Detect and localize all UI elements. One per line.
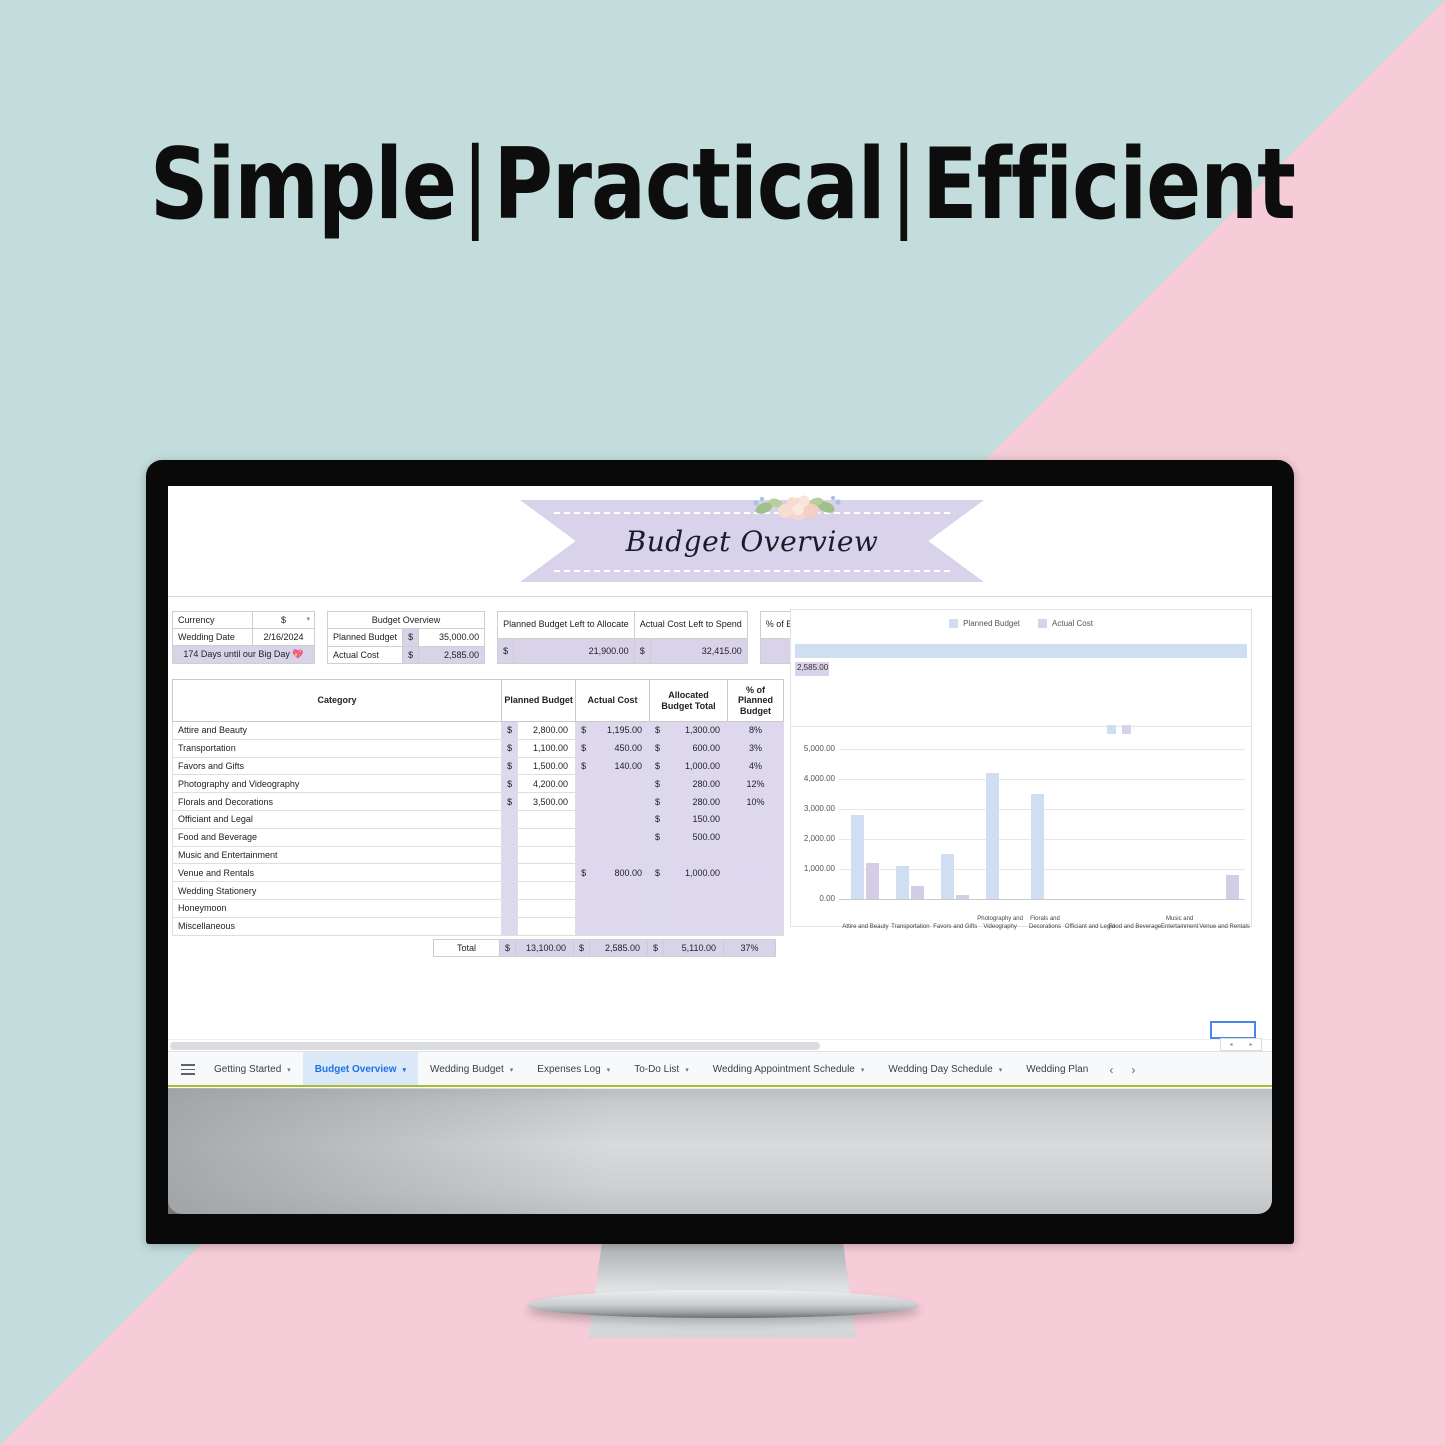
chart-bar-group: [896, 749, 924, 899]
row-category-cell[interactable]: Attire and Beauty: [173, 722, 502, 740]
row-allocated-value[interactable]: 280.00: [666, 793, 728, 811]
row-planned-currency[interactable]: [502, 811, 518, 829]
col-legend-swatch-actual-icon: [1122, 725, 1131, 734]
row-allocated-currency[interactable]: $: [650, 722, 666, 740]
sheet-tab-getting-started[interactable]: Getting Started▾: [202, 1052, 303, 1088]
table-row[interactable]: Honeymoon: [173, 900, 784, 918]
total-row-table: Total $ 13,100.00 $ 2,585.00 $ 5,110.00 …: [433, 939, 776, 957]
chart-bar-group: [851, 749, 879, 899]
row-planned-currency[interactable]: $: [502, 775, 518, 793]
actual-left-header: Actual Cost Left to Spend: [634, 612, 747, 639]
hbar-actual-label: 2,585.00: [797, 663, 828, 672]
total-planned-value: 13,100.00: [516, 940, 574, 957]
row-planned-value[interactable]: 1,500.00: [518, 757, 576, 775]
tab-chevron-down-icon[interactable]: ▾: [287, 1066, 291, 1074]
currency-info-panel: Currency $ ▾ Wedding Date 2/16/2024 174 …: [172, 611, 315, 664]
table-row[interactable]: Music and Entertainment: [173, 846, 784, 864]
headline-separator-1: |: [456, 128, 493, 242]
sheet-body: Currency $ ▾ Wedding Date 2/16/2024 174 …: [168, 597, 1272, 1087]
row-category-cell[interactable]: Food and Beverage: [173, 828, 502, 846]
row-allocated-value[interactable]: 500.00: [666, 828, 728, 846]
row-planned-currency[interactable]: [502, 900, 518, 918]
chart-x-axis: [839, 899, 1245, 900]
row-allocated-currency[interactable]: [650, 846, 666, 864]
total-allocated-currency: $: [648, 940, 664, 957]
row-category-cell[interactable]: Transportation: [173, 739, 502, 757]
planned-left-value: 21,900.00: [514, 638, 635, 663]
chart-y-tick-label: 4,000.00: [795, 774, 835, 783]
row-category-cell[interactable]: Venue and Rentals: [173, 864, 502, 882]
row-actual-value[interactable]: [592, 828, 650, 846]
row-actual-value[interactable]: 450.00: [592, 739, 650, 757]
row-allocated-value[interactable]: [666, 846, 728, 864]
row-allocated-value[interactable]: [666, 882, 728, 900]
sheet-tab-label: Wedding Budget: [430, 1064, 504, 1075]
headline-word-3: Efficient: [922, 128, 1295, 242]
planned-left-header: Planned Budget Left to Allocate: [498, 612, 635, 639]
total-actual-currency: $: [574, 940, 590, 957]
row-allocated-currency[interactable]: $: [650, 775, 666, 793]
headline-separator-2: |: [885, 128, 922, 242]
chart-legend-top: Planned Budget Actual Cost: [791, 610, 1251, 628]
row-allocated-currency[interactable]: $: [650, 811, 666, 829]
countdown-banner: 174 Days until our Big Day 💖: [173, 646, 315, 664]
tab-chevron-down-icon[interactable]: ▾: [402, 1066, 406, 1074]
tab-chevron-down-icon[interactable]: ▾: [685, 1066, 689, 1074]
charts-panel[interactable]: Planned Budget Actual Cost 2,585.00: [790, 609, 1252, 927]
sheet-tab-bar: Getting Started▾Budget Overview▾Wedding …: [168, 1051, 1272, 1087]
row-allocated-currency[interactable]: $: [650, 864, 666, 882]
sheet-tab-budget-overview[interactable]: Budget Overview▾: [303, 1052, 418, 1088]
table-header-row: Category Planned Budget Actual Cost Allo…: [173, 680, 784, 722]
sheet-tab-wedding-day-schedule[interactable]: Wedding Day Schedule▾: [876, 1052, 1014, 1088]
row-planned-currency[interactable]: $: [502, 793, 518, 811]
row-planned-currency[interactable]: $: [502, 739, 518, 757]
table-row[interactable]: Miscellaneous: [173, 917, 784, 935]
tab-chevron-down-icon[interactable]: ▾: [999, 1066, 1003, 1074]
sheet-tab-wedding-budget[interactable]: Wedding Budget▾: [418, 1052, 525, 1088]
actual-cost-value: 2,585.00: [419, 646, 485, 663]
row-actual-value[interactable]: [592, 811, 650, 829]
cell-nav-buttons[interactable]: ◂ ▸: [1220, 1038, 1262, 1051]
row-planned-value[interactable]: [518, 864, 576, 882]
row-category-cell[interactable]: Honeymoon: [173, 900, 502, 918]
row-allocated-value[interactable]: 280.00: [666, 775, 728, 793]
row-percent-value[interactable]: 8%: [728, 722, 784, 740]
row-allocated-value[interactable]: [666, 917, 728, 935]
row-category-cell[interactable]: Wedding Stationery: [173, 882, 502, 900]
row-allocated-value[interactable]: 1,300.00: [666, 722, 728, 740]
tabs-prev-arrow-icon[interactable]: ‹: [1100, 1063, 1122, 1077]
sheet-tab-label: Wedding Appointment Schedule: [713, 1064, 855, 1075]
row-percent-value[interactable]: [728, 811, 784, 829]
total-label: Total: [434, 940, 500, 957]
row-planned-value[interactable]: 2,800.00: [518, 722, 576, 740]
col-header-planned: Planned Budget: [502, 680, 576, 722]
table-row[interactable]: Food and Beverage$500.00: [173, 828, 784, 846]
chart-bar-group: [986, 749, 1014, 899]
row-actual-currency[interactable]: $: [576, 757, 592, 775]
legend-item-planned: Planned Budget: [949, 619, 1020, 628]
chart-bar-group: [1121, 749, 1149, 899]
row-actual-value[interactable]: [592, 882, 650, 900]
row-actual-value[interactable]: [592, 846, 650, 864]
row-planned-value[interactable]: [518, 846, 576, 864]
row-actual-currency[interactable]: [576, 846, 592, 864]
col-header-category: Category: [173, 680, 502, 722]
sheet-tab-label: Getting Started: [214, 1064, 281, 1075]
chart-bar-group: [1211, 749, 1239, 899]
planned-budget-label: Planned Budget: [328, 629, 403, 646]
row-actual-currency[interactable]: [576, 917, 592, 935]
col-header-actual: Actual Cost: [576, 680, 650, 722]
row-planned-currency[interactable]: [502, 882, 518, 900]
chevron-down-icon[interactable]: ▾: [306, 615, 310, 623]
row-actual-value[interactable]: 800.00: [592, 864, 650, 882]
headline-word-2: Practical: [494, 128, 885, 242]
row-planned-value[interactable]: 1,100.00: [518, 739, 576, 757]
total-allocated-value: 5,110.00: [664, 940, 724, 957]
sheet-banner: Budget Overview: [168, 486, 1272, 596]
table-row[interactable]: Attire and Beauty$2,800.00$1,195.00$1,30…: [173, 722, 784, 740]
chart-bar-actual: [911, 886, 924, 900]
row-allocated-value[interactable]: 1,000.00: [666, 757, 728, 775]
row-actual-currency[interactable]: [576, 900, 592, 918]
row-percent-value[interactable]: 3%: [728, 739, 784, 757]
tabs-next-arrow-icon[interactable]: ›: [1122, 1063, 1144, 1077]
sheet-tab-label: Wedding Day Schedule: [888, 1064, 992, 1075]
actual-left-value: 32,415.00: [650, 638, 747, 663]
tab-chevron-down-icon[interactable]: ▾: [607, 1066, 611, 1074]
chart-bar-planned: [941, 854, 954, 899]
planned-budget-value[interactable]: 35,000.00: [419, 629, 485, 646]
remaining-panel: Planned Budget Left to Allocate Actual C…: [497, 611, 748, 664]
row-percent-value[interactable]: 12%: [728, 775, 784, 793]
row-actual-currency[interactable]: [576, 882, 592, 900]
cell-nav-next-icon[interactable]: ▸: [1241, 1039, 1261, 1050]
row-percent-value[interactable]: 4%: [728, 757, 784, 775]
row-allocated-currency[interactable]: $: [650, 828, 666, 846]
table-total-row: Total $ 13,100.00 $ 2,585.00 $ 5,110.00 …: [434, 940, 776, 957]
actual-left-currency: $: [634, 638, 650, 663]
currency-value: $: [281, 615, 286, 625]
row-planned-value[interactable]: [518, 900, 576, 918]
budget-category-table: Category Planned Budget Actual Cost Allo…: [172, 679, 784, 936]
row-actual-currency[interactable]: [576, 828, 592, 846]
headline-word-1: Simple: [150, 128, 456, 242]
col-legend-swatch-planned-icon: [1107, 725, 1116, 734]
sheet-tab-label: Expenses Log: [537, 1064, 600, 1075]
chart-bar-planned: [896, 866, 909, 899]
row-planned-currency[interactable]: [502, 917, 518, 935]
col-header-allocated: Allocated Budget Total: [650, 680, 728, 722]
chart-bar-group: [1031, 749, 1059, 899]
table-row[interactable]: Wedding Stationery: [173, 882, 784, 900]
chart-bar-planned: [1031, 794, 1044, 899]
sheet-tab-label: To-Do List: [634, 1064, 679, 1075]
cell-nav-prev-icon[interactable]: ◂: [1221, 1039, 1241, 1050]
budget-overview-panel: Budget Overview Planned Budget $ 35,000.…: [327, 611, 485, 664]
chart-y-tick-label: 1,000.00: [795, 864, 835, 873]
page-headline: Simple|Practical|Efficient: [58, 128, 1387, 242]
row-actual-value[interactable]: [592, 775, 650, 793]
sheet-tab-to-do-list[interactable]: To-Do List▾: [622, 1052, 701, 1088]
tab-chevron-down-icon[interactable]: ▾: [510, 1066, 514, 1074]
row-planned-value[interactable]: [518, 828, 576, 846]
row-planned-currency[interactable]: $: [502, 757, 518, 775]
row-percent-value[interactable]: [728, 882, 784, 900]
row-actual-currency[interactable]: $: [576, 864, 592, 882]
table-row[interactable]: Florals and Decorations$3,500.00$280.001…: [173, 793, 784, 811]
row-percent-value[interactable]: 10%: [728, 793, 784, 811]
chart-bar-actual: [866, 863, 879, 899]
legend-label-actual: Actual Cost: [1052, 619, 1093, 628]
row-allocated-value[interactable]: 150.00: [666, 811, 728, 829]
sheet-tab-label: Budget Overview: [315, 1064, 397, 1075]
chart-bar-group: [1166, 749, 1194, 899]
row-actual-currency[interactable]: $: [576, 722, 592, 740]
row-allocated-currency[interactable]: [650, 917, 666, 935]
chart-y-tick-label: 5,000.00: [795, 744, 835, 753]
row-actual-value[interactable]: [592, 917, 650, 935]
sheet-tab-wedding-appointment-schedule[interactable]: Wedding Appointment Schedule▾: [701, 1052, 877, 1088]
row-allocated-currency[interactable]: [650, 882, 666, 900]
row-category-cell[interactable]: Favors and Gifts: [173, 757, 502, 775]
wedding-date-label: Wedding Date: [173, 629, 253, 646]
spreadsheet-screen: Budget Overview Currency $ ▾: [168, 486, 1272, 1088]
hbar-planned-budget: [795, 644, 1247, 658]
sheet-tab-wedding-plan[interactable]: Wedding Plan: [1014, 1052, 1100, 1088]
monitor-stand-base: [527, 1290, 919, 1318]
row-actual-currency[interactable]: [576, 811, 592, 829]
row-allocated-currency[interactable]: $: [650, 757, 666, 775]
monitor-bezel: Budget Overview Currency $ ▾: [146, 460, 1294, 1244]
row-actual-currency[interactable]: [576, 775, 592, 793]
sheet-tab-label: Wedding Plan: [1026, 1064, 1088, 1075]
row-actual-value[interactable]: 140.00: [592, 757, 650, 775]
selected-cell[interactable]: [1210, 1021, 1256, 1039]
row-allocated-currency[interactable]: $: [650, 793, 666, 811]
row-category-cell[interactable]: Music and Entertainment: [173, 846, 502, 864]
row-planned-value[interactable]: 3,500.00: [518, 793, 576, 811]
legend-swatch-actual-icon: [1038, 619, 1047, 628]
chart-bar-group: [941, 749, 969, 899]
sheet-tab-expenses-log[interactable]: Expenses Log▾: [525, 1052, 622, 1088]
legend-label-planned: Planned Budget: [963, 619, 1020, 628]
row-allocated-value[interactable]: 600.00: [666, 739, 728, 757]
monitor-mockup: Budget Overview Currency $ ▾: [146, 460, 1294, 1244]
horizontal-scrollbar-track[interactable]: [168, 1039, 1272, 1051]
row-planned-value[interactable]: 4,200.00: [518, 775, 576, 793]
table-row[interactable]: Venue and Rentals$800.00$1,000.00: [173, 864, 784, 882]
actual-cost-currency: $: [403, 646, 419, 663]
chart-y-tick-label: 0.00: [795, 894, 835, 903]
chart-x-tick-label: Venue and Rentals: [1194, 924, 1256, 932]
monitor-chin: [168, 1088, 1272, 1214]
row-actual-value[interactable]: 1,195.00: [592, 722, 650, 740]
planned-left-currency: $: [498, 638, 514, 663]
sheet-banner-title: Budget Overview: [520, 500, 984, 582]
horizontal-scrollbar-thumb[interactable]: [170, 1042, 820, 1050]
row-category-cell[interactable]: Photography and Videography: [173, 775, 502, 793]
row-category-cell[interactable]: Officiant and Legal: [173, 811, 502, 829]
chart-bar-actual: [956, 895, 969, 899]
row-planned-value[interactable]: [518, 811, 576, 829]
budget-overview-panel-title: Budget Overview: [328, 612, 485, 629]
col-header-percent: % of Planned Budget: [728, 680, 784, 722]
currency-select[interactable]: $ ▾: [253, 612, 315, 629]
row-planned-currency[interactable]: $: [502, 722, 518, 740]
all-sheets-menu-icon[interactable]: [174, 1064, 202, 1075]
row-planned-value[interactable]: [518, 917, 576, 935]
row-percent-value[interactable]: [728, 900, 784, 918]
horizontal-bar-chart: 2,585.00: [791, 638, 1251, 726]
row-actual-value[interactable]: [592, 793, 650, 811]
tab-bar-underline: [168, 1085, 1272, 1087]
row-allocated-currency[interactable]: [650, 900, 666, 918]
row-allocated-currency[interactable]: $: [650, 739, 666, 757]
chart-bar-planned: [851, 815, 864, 899]
total-actual-value: 2,585.00: [590, 940, 648, 957]
table-row[interactable]: Transportation$1,100.00$450.00$600.003%: [173, 739, 784, 757]
wedding-date-value[interactable]: 2/16/2024: [253, 629, 315, 646]
row-percent-value[interactable]: [728, 917, 784, 935]
chart-y-tick-label: 2,000.00: [795, 834, 835, 843]
row-actual-value[interactable]: [592, 900, 650, 918]
tab-chevron-down-icon[interactable]: ▾: [861, 1066, 865, 1074]
total-planned-currency: $: [500, 940, 516, 957]
planned-budget-currency: $: [403, 629, 419, 646]
row-planned-value[interactable]: [518, 882, 576, 900]
row-category-cell[interactable]: Miscellaneous: [173, 917, 502, 935]
chart-bar-planned: [986, 773, 999, 899]
table-row[interactable]: Photography and Videography$4,200.00$280…: [173, 775, 784, 793]
row-actual-currency[interactable]: $: [576, 739, 592, 757]
table-row[interactable]: Officiant and Legal$150.00: [173, 811, 784, 829]
row-percent-value[interactable]: [728, 864, 784, 882]
column-chart-legend: [1107, 725, 1131, 734]
legend-item-actual: Actual Cost: [1038, 619, 1093, 628]
row-actual-currency[interactable]: [576, 793, 592, 811]
chart-y-tick-label: 3,000.00: [795, 804, 835, 813]
summary-panels-row: Currency $ ▾ Wedding Date 2/16/2024 174 …: [172, 611, 844, 664]
row-percent-value[interactable]: [728, 846, 784, 864]
total-percent-value: 37%: [724, 940, 776, 957]
table-row[interactable]: Favors and Gifts$1,500.00$140.00$1,000.0…: [173, 757, 784, 775]
chart-bar-group: [1076, 749, 1104, 899]
actual-cost-label: Actual Cost: [328, 646, 403, 663]
row-percent-value[interactable]: [728, 828, 784, 846]
row-planned-currency[interactable]: [502, 864, 518, 882]
row-planned-currency[interactable]: [502, 828, 518, 846]
chart-bar-actual: [1226, 875, 1239, 899]
row-allocated-value[interactable]: [666, 900, 728, 918]
row-planned-currency[interactable]: [502, 846, 518, 864]
legend-swatch-planned-icon: [949, 619, 958, 628]
currency-label: Currency: [173, 612, 253, 629]
column-chart: 0.001,000.002,000.003,000.004,000.005,00…: [791, 727, 1251, 933]
row-allocated-value[interactable]: 1,000.00: [666, 864, 728, 882]
row-category-cell[interactable]: Florals and Decorations: [173, 793, 502, 811]
